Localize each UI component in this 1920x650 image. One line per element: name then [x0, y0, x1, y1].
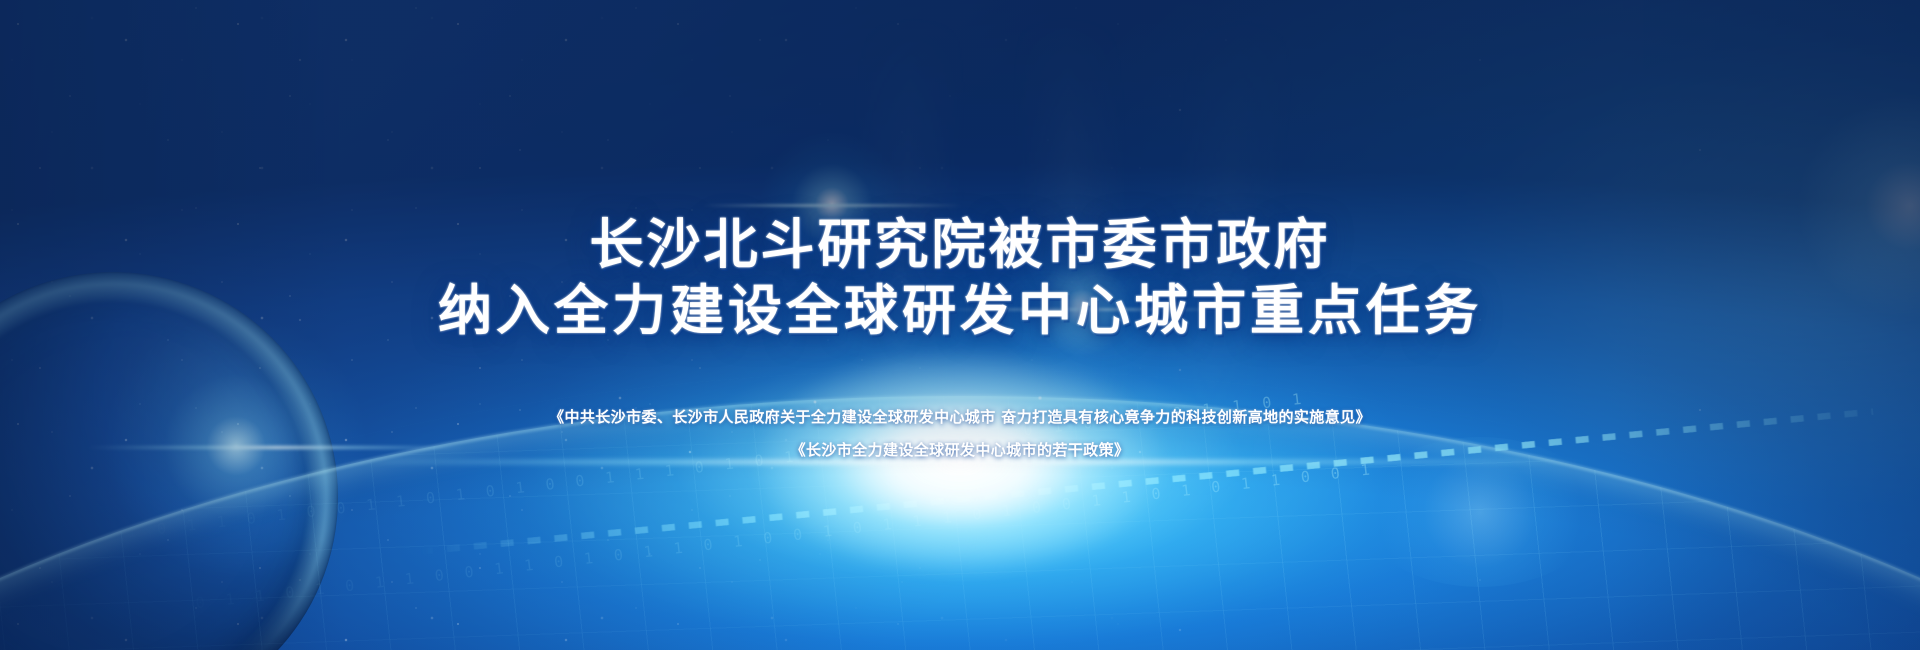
subtitle-policy-opinion: 《中共长沙市委、长沙市人民政府关于全力建设全球研发中心城市 奋力打造具有核心竟争… [549, 406, 1371, 427]
banner-subtitles: 《中共长沙市委、长沙市人民政府关于全力建设全球研发中心城市 奋力打造具有核心竟争… [549, 406, 1371, 460]
banner-headline: 长沙北斗研究院被市委市政府 纳入全力建设全球研发中心城市重点任务 [438, 212, 1482, 344]
subtitle-policy-measures: 《长沙市全力建设全球研发中心城市的若干政策》 [791, 439, 1130, 460]
headline-line-2: 纳入全力建设全球研发中心城市重点任务 [438, 278, 1482, 344]
headline-line-1: 长沙北斗研究院被市委市政府 [438, 212, 1482, 278]
promo-banner: 1 0 1 1 0 1 0 0 1 1 0 1 0 1 0 0 1 1 1 0 … [0, 0, 1920, 650]
banner-content: 长沙北斗研究院被市委市政府 纳入全力建设全球研发中心城市重点任务 《中共长沙市委… [0, 0, 1920, 650]
